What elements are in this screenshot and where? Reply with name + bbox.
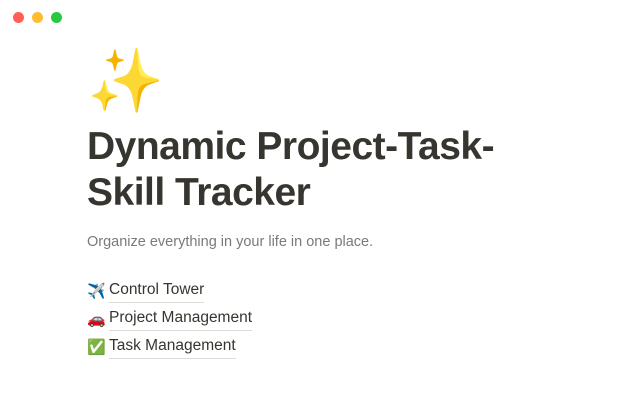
page-link-control-tower[interactable]: Control Tower bbox=[109, 280, 204, 303]
page-link-task-management[interactable]: Task Management bbox=[109, 336, 236, 359]
page-link-list: ✈️ Control Tower 🚗 Project Management ✅ … bbox=[87, 281, 600, 359]
traffic-lights bbox=[13, 12, 62, 23]
page-link-project-management[interactable]: Project Management bbox=[109, 308, 252, 331]
window-titlebar bbox=[0, 0, 640, 34]
sparkles-icon[interactable]: ✨ bbox=[87, 50, 600, 124]
page-title: Dynamic Project-Task-Skill Tracker bbox=[87, 124, 532, 215]
zoom-button[interactable] bbox=[51, 12, 62, 23]
list-item[interactable]: ✅ Task Management bbox=[87, 337, 600, 359]
check-mark-button-icon: ✅ bbox=[87, 340, 109, 355]
page-subtitle: Organize everything in your life in one … bbox=[87, 232, 600, 252]
close-button[interactable] bbox=[13, 12, 24, 23]
list-item[interactable]: ✈️ Control Tower bbox=[87, 281, 600, 303]
minimize-button[interactable] bbox=[32, 12, 43, 23]
car-icon: 🚗 bbox=[87, 312, 109, 327]
airplane-icon: ✈️ bbox=[87, 284, 109, 299]
list-item[interactable]: 🚗 Project Management bbox=[87, 309, 600, 331]
page-content: ✨ Dynamic Project-Task-Skill Tracker Org… bbox=[0, 34, 640, 359]
